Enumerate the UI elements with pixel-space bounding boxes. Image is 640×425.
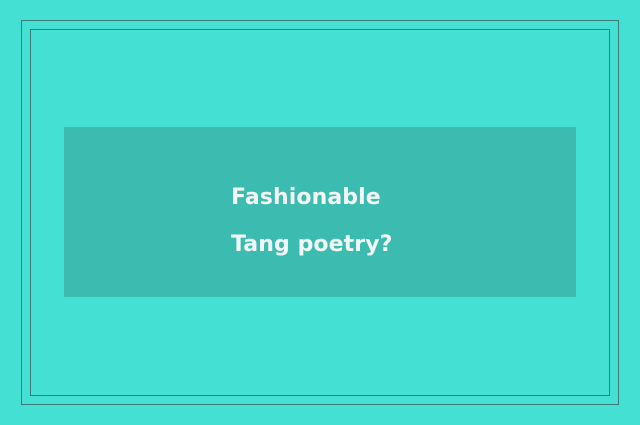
slide-canvas: Fashionable Tang poetry? xyxy=(0,0,640,425)
slide-title: Fashionable Tang poetry? xyxy=(231,174,561,268)
slide-title-line-2: Tang poetry? xyxy=(231,221,561,268)
slide-title-line-1: Fashionable xyxy=(231,174,561,221)
title-panel: Fashionable Tang poetry? xyxy=(64,127,576,297)
